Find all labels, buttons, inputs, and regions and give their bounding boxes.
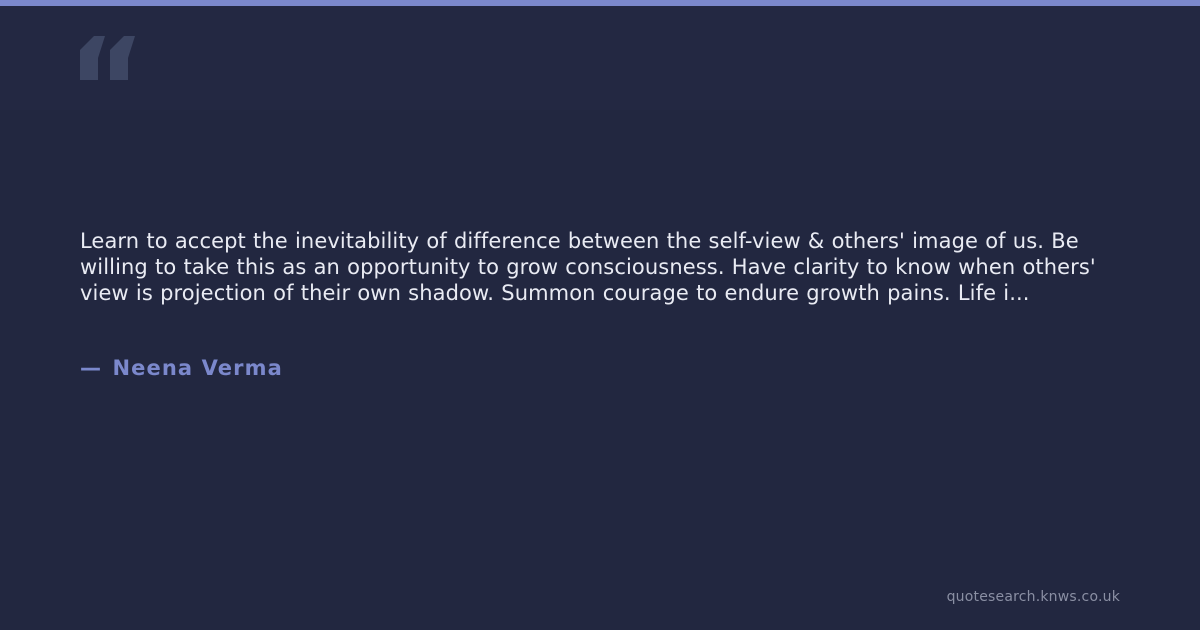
quote-text: Learn to accept the inevitability of dif… xyxy=(80,228,1126,306)
source-url: quotesearch.knws.co.uk xyxy=(947,588,1120,606)
author-dash: — xyxy=(80,354,102,382)
author-attribution: — Neena Verma xyxy=(80,354,283,382)
quotation-mark-icon xyxy=(78,34,136,86)
quote-card: Learn to accept the inevitability of dif… xyxy=(0,0,1200,630)
quote-body: Learn to accept the inevitability of dif… xyxy=(80,228,1126,306)
background-band xyxy=(0,6,1200,110)
author-name: Neena Verma xyxy=(113,354,283,382)
